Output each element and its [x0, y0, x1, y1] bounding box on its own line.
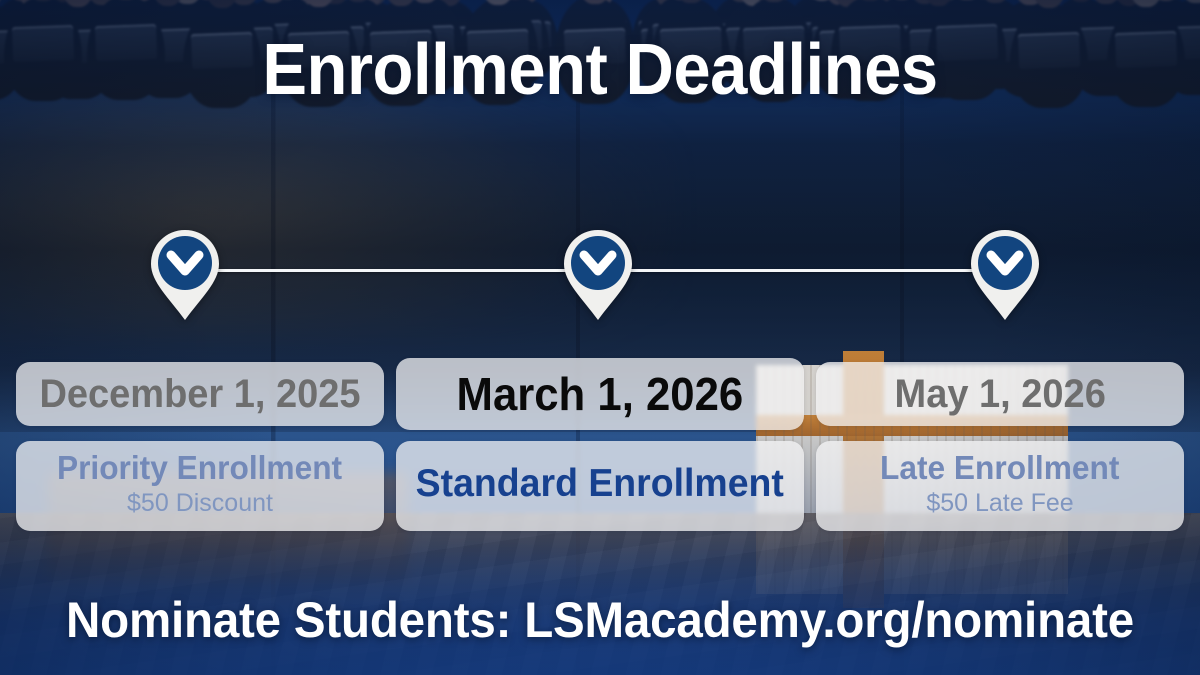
label-card-late: Late Enrollment $50 Late Fee — [816, 441, 1184, 531]
date-card-may: May 1, 2026 — [816, 362, 1184, 426]
date-cell-3: May 1, 2026 — [816, 362, 1184, 430]
milestone-cards: December 1, 2025 March 1, 2026 May 1, 20… — [16, 362, 1184, 531]
cta-nominate-students[interactable]: Nominate Students: LSMacademy.org/nomina… — [30, 595, 1170, 645]
label-subtitle: $50 Discount — [127, 488, 273, 518]
label-title: Late Enrollment — [880, 450, 1119, 487]
date-text: May 1, 2026 — [894, 374, 1105, 414]
date-cell-2: March 1, 2026 — [396, 362, 804, 430]
label-card-priority: Priority Enrollment $50 Discount — [16, 441, 384, 531]
label-subtitle: $50 Late Fee — [926, 488, 1073, 518]
label-title: Priority Enrollment — [57, 450, 342, 487]
date-row: December 1, 2025 March 1, 2026 May 1, 20… — [16, 362, 1184, 430]
chevron-down-pin-icon — [149, 228, 221, 322]
timeline-marker-may[interactable] — [969, 228, 1041, 322]
chevron-down-pin-icon — [969, 228, 1041, 322]
date-card-december: December 1, 2025 — [16, 362, 384, 426]
timeline-marker-march[interactable] — [562, 228, 634, 322]
date-text: December 1, 2025 — [39, 374, 360, 414]
enrollment-deadlines-graphic: Enrollment Deadlines — [0, 0, 1200, 675]
label-row: Priority Enrollment $50 Discount Standar… — [16, 441, 1184, 531]
label-cell-2: Standard Enrollment — [396, 441, 804, 531]
label-title: Standard Enrollment — [416, 462, 784, 506]
date-text: March 1, 2026 — [457, 371, 744, 417]
label-cell-1: Priority Enrollment $50 Discount — [16, 441, 384, 531]
page-title: Enrollment Deadlines — [42, 34, 1158, 106]
date-cell-1: December 1, 2025 — [16, 362, 384, 430]
date-card-march: March 1, 2026 — [396, 358, 804, 430]
label-cell-3: Late Enrollment $50 Late Fee — [816, 441, 1184, 531]
label-card-standard: Standard Enrollment — [396, 441, 804, 531]
chevron-down-pin-icon — [562, 228, 634, 322]
timeline-marker-december[interactable] — [149, 228, 221, 322]
